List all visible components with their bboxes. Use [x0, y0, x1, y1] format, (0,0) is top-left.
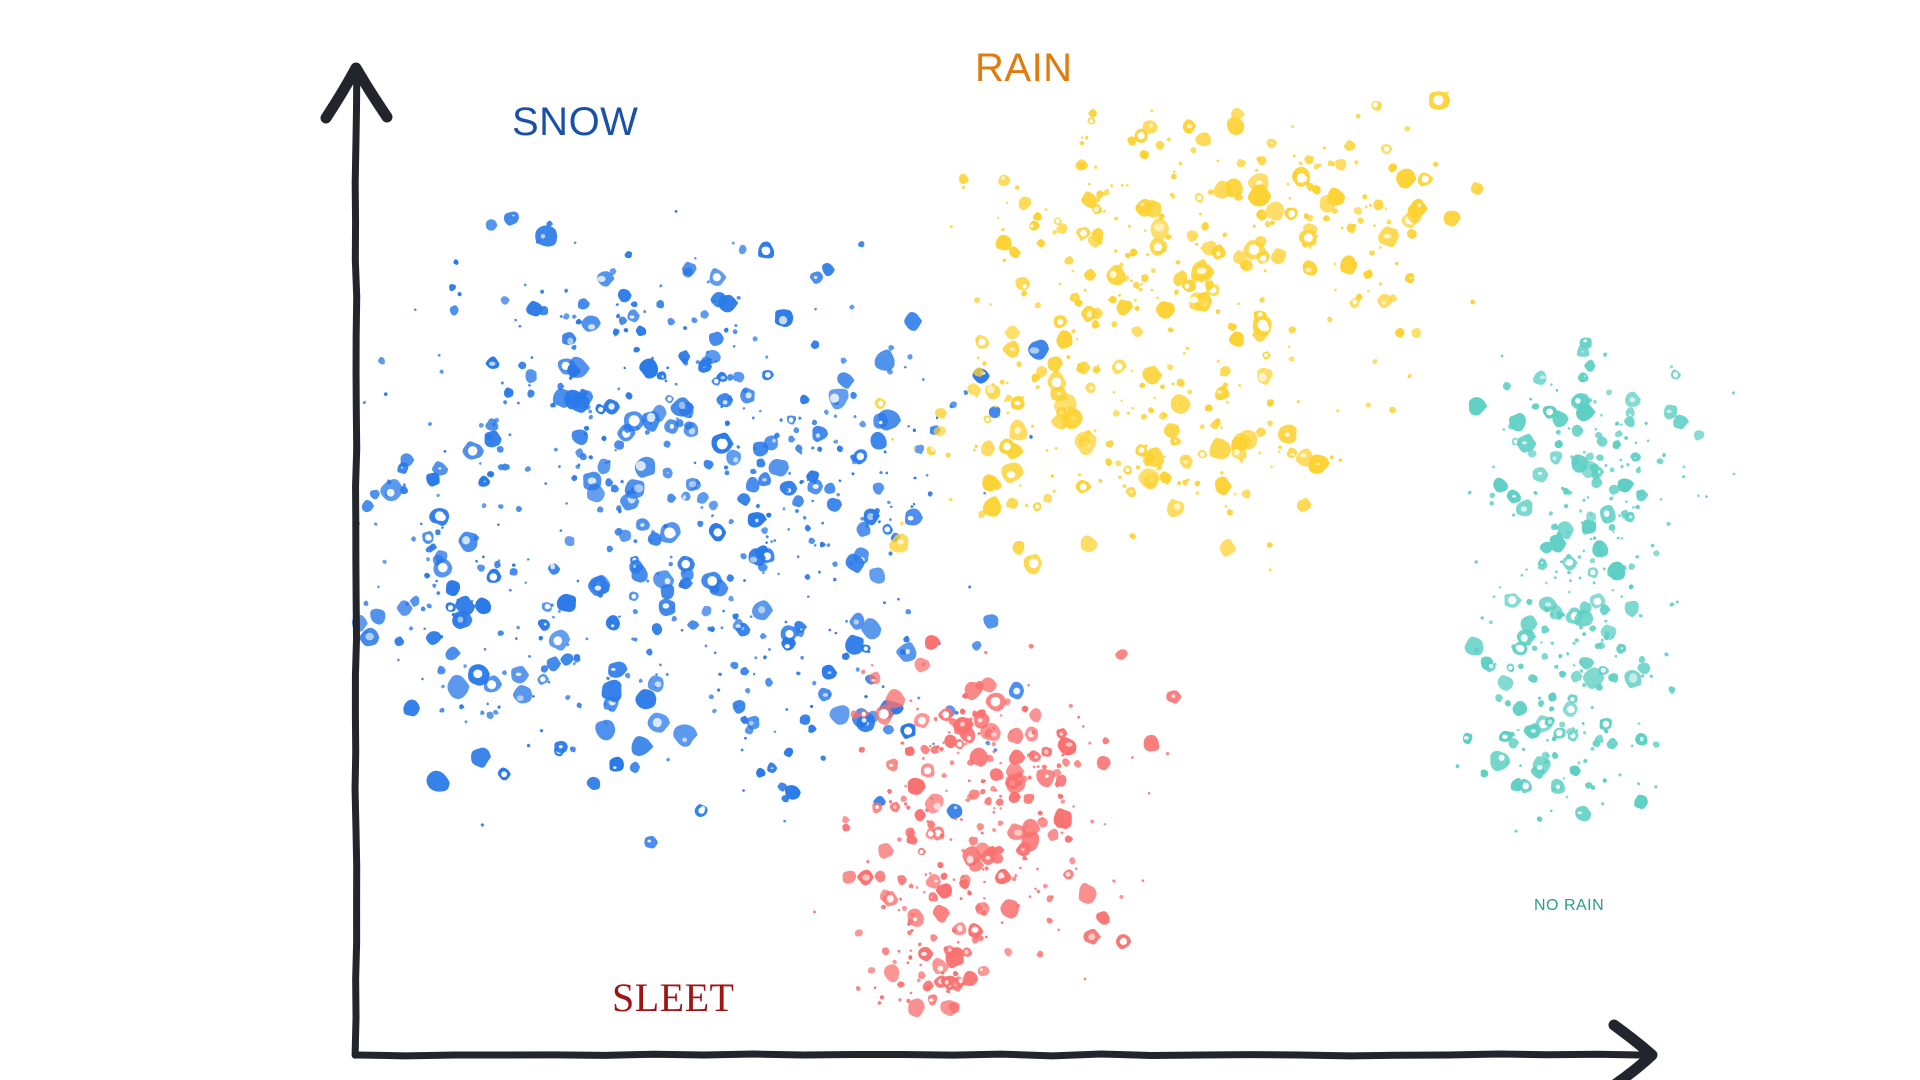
- data-point: [1074, 760, 1081, 768]
- data-point: [997, 217, 999, 220]
- data-point: [646, 579, 649, 582]
- data-point: [1054, 315, 1068, 328]
- data-point: [919, 963, 922, 966]
- data-point: [1004, 948, 1012, 956]
- data-point: [923, 891, 926, 894]
- data-point: [1019, 197, 1032, 211]
- data-point: [875, 350, 895, 371]
- data-point: [1220, 366, 1231, 376]
- data-point: [1365, 205, 1368, 208]
- data-point: [1139, 383, 1145, 388]
- data-point: [513, 685, 532, 703]
- data-point: [1379, 282, 1383, 286]
- data-point: [811, 340, 819, 349]
- data-point: [1257, 156, 1266, 165]
- data-point: [1142, 879, 1145, 882]
- data-point: [1538, 697, 1541, 700]
- data-point: [446, 580, 460, 596]
- data-point: [871, 664, 874, 667]
- data-point: [578, 298, 590, 309]
- data-point: [998, 174, 1010, 186]
- data-point: [909, 699, 912, 702]
- data-point: [920, 745, 930, 755]
- data-point: [1074, 299, 1083, 307]
- data-point: [643, 310, 646, 313]
- data-point: [1197, 450, 1207, 459]
- data-point: [889, 800, 892, 803]
- data-point: [952, 928, 957, 932]
- data-point: [753, 673, 756, 676]
- data-point: [978, 511, 985, 519]
- data-point: [750, 615, 753, 618]
- data-point: [438, 354, 441, 357]
- data-point: [1028, 340, 1049, 360]
- data-point: [1288, 345, 1291, 348]
- data-point: [498, 559, 501, 562]
- data-point: [1640, 674, 1644, 677]
- data-point: [1555, 570, 1558, 573]
- data-point: [1501, 355, 1504, 358]
- data-point: [757, 458, 766, 467]
- data-point: [960, 897, 963, 900]
- data-point: [1078, 474, 1081, 477]
- data-point: [913, 429, 916, 433]
- data-point: [1528, 450, 1537, 458]
- data-point: [608, 662, 628, 678]
- data-point: [928, 994, 937, 1005]
- data-point: [929, 745, 932, 747]
- data-point: [1094, 429, 1097, 432]
- data-point: [1063, 869, 1074, 879]
- data-point: [1293, 154, 1296, 157]
- data-point: [656, 300, 664, 308]
- data-point: [498, 504, 504, 509]
- data-point: [1577, 761, 1580, 764]
- data-point: [977, 732, 980, 735]
- data-point: [1288, 326, 1296, 333]
- data-point: [494, 561, 501, 569]
- data-point: [800, 656, 803, 660]
- data-point: [1170, 437, 1181, 446]
- data-point: [737, 493, 750, 506]
- data-point: [403, 700, 420, 717]
- data-point: [707, 280, 710, 283]
- data-point: [712, 377, 721, 385]
- data-point: [420, 523, 423, 526]
- data-point: [362, 500, 374, 512]
- data-point: [665, 395, 674, 403]
- data-point: [1144, 735, 1160, 752]
- data-point: [1001, 921, 1004, 924]
- data-point: [907, 425, 910, 427]
- data-point: [1635, 505, 1639, 509]
- data-point: [624, 328, 629, 332]
- data-point: [873, 483, 885, 495]
- data-point: [990, 768, 1003, 781]
- data-point: [941, 773, 947, 778]
- data-point: [1620, 595, 1623, 598]
- data-point: [619, 317, 627, 325]
- data-point: [1144, 229, 1147, 232]
- data-point: [666, 758, 670, 762]
- data-point: [765, 541, 768, 544]
- data-point: [1180, 455, 1193, 469]
- data-point: [1090, 820, 1094, 824]
- data-point: [691, 317, 697, 323]
- data-point: [1000, 380, 1005, 385]
- data-point: [435, 580, 438, 582]
- data-point: [1538, 700, 1544, 707]
- data-point: [1490, 493, 1496, 499]
- data-point: [1129, 533, 1136, 539]
- data-point: [783, 820, 786, 823]
- data-point: [941, 873, 948, 880]
- data-point: [892, 960, 897, 964]
- data-point: [1058, 928, 1061, 931]
- data-point: [741, 749, 744, 752]
- data-point: [1058, 794, 1064, 799]
- data-point: [606, 615, 620, 630]
- data-point: [486, 219, 498, 231]
- data-point: [1199, 424, 1204, 429]
- data-point: [906, 806, 910, 810]
- data-point: [540, 290, 544, 294]
- data-point: [758, 472, 771, 486]
- data-point: [1603, 567, 1606, 570]
- data-point: [1120, 399, 1123, 402]
- data-point: [904, 312, 922, 331]
- data-point: [1036, 769, 1054, 787]
- data-point: [1156, 141, 1165, 150]
- data-point: [882, 685, 885, 688]
- data-point: [1517, 729, 1520, 732]
- data-point: [1610, 467, 1615, 472]
- data-point: [1541, 625, 1549, 633]
- data-point: [950, 225, 953, 228]
- data-point: [428, 422, 432, 426]
- data-point: [796, 671, 801, 675]
- data-point: [915, 445, 925, 454]
- data-point: [1088, 183, 1091, 186]
- data-point: [1490, 501, 1495, 506]
- data-point: [1173, 170, 1176, 173]
- data-point: [1179, 162, 1183, 166]
- data-point: [572, 315, 577, 319]
- data-point: [676, 417, 679, 420]
- data-point: [1103, 189, 1109, 195]
- data-point: [482, 555, 485, 558]
- data-point: [1202, 241, 1217, 256]
- data-point: [1309, 246, 1312, 249]
- data-point: [1083, 929, 1101, 945]
- data-point: [1389, 407, 1396, 414]
- data-point: [1620, 465, 1623, 469]
- data-point: [515, 637, 518, 640]
- data-point: [901, 796, 908, 802]
- data-point: [450, 305, 459, 315]
- data-point: [1047, 918, 1053, 924]
- data-point: [788, 436, 795, 443]
- data-point: [1003, 341, 1020, 358]
- data-point: [805, 525, 811, 532]
- data-point: [999, 795, 1002, 798]
- data-point: [766, 535, 769, 538]
- data-point: [812, 420, 817, 426]
- data-point: [1133, 281, 1140, 289]
- data-point: [1588, 567, 1599, 578]
- data-point: [1519, 764, 1522, 767]
- data-point: [565, 695, 570, 700]
- data-point: [493, 710, 498, 715]
- data-point: [910, 929, 914, 933]
- data-point: [1549, 511, 1553, 516]
- data-point: [810, 705, 813, 708]
- data-point: [788, 472, 791, 475]
- data-point: [1081, 191, 1097, 208]
- data-point: [1146, 253, 1149, 256]
- data-point: [458, 292, 462, 296]
- data-point: [1616, 644, 1626, 654]
- data-point: [984, 797, 991, 806]
- data-point: [733, 700, 746, 714]
- data-point: [633, 539, 637, 543]
- data-point: [512, 563, 516, 566]
- data-point: [875, 508, 880, 514]
- data-point: [633, 638, 637, 642]
- data-point: [501, 381, 504, 384]
- data-point: [1573, 664, 1576, 667]
- data-point: [1121, 184, 1124, 187]
- data-point: [626, 392, 633, 399]
- data-point: [633, 347, 640, 353]
- data-point: [737, 296, 741, 300]
- data-point: [1395, 262, 1399, 266]
- data-point: [1503, 382, 1511, 391]
- data-point: [887, 501, 891, 504]
- data-point: [421, 678, 424, 681]
- data-point: [447, 675, 469, 699]
- data-point: [913, 503, 915, 506]
- data-point: [575, 465, 580, 469]
- data-point: [439, 370, 443, 374]
- data-point: [743, 407, 746, 410]
- data-point: [1240, 262, 1248, 269]
- data-point: [436, 591, 440, 595]
- data-point: [933, 905, 950, 923]
- data-point: [918, 971, 926, 979]
- data-point: [1339, 458, 1343, 462]
- data-point: [1220, 426, 1223, 428]
- data-point: [867, 650, 870, 653]
- data-point: [1521, 574, 1524, 577]
- data-point: [426, 631, 442, 645]
- data-point: [910, 992, 913, 995]
- data-point: [1362, 194, 1367, 199]
- data-point: [834, 414, 838, 417]
- data-point: [1358, 218, 1364, 224]
- data-point: [937, 862, 943, 868]
- data-point: [921, 763, 935, 777]
- data-point: [1028, 775, 1032, 779]
- data-point: [1559, 722, 1565, 728]
- data-point: [576, 319, 582, 325]
- data-point: [687, 620, 699, 629]
- data-point: [639, 358, 658, 378]
- data-point: [977, 823, 984, 831]
- data-point: [1593, 400, 1597, 404]
- data-point: [659, 284, 662, 287]
- data-point: [725, 421, 730, 427]
- data-point: [897, 837, 902, 842]
- data-point: [725, 470, 730, 475]
- data-point: [508, 433, 511, 436]
- data-point: [617, 387, 620, 390]
- data-point: [712, 709, 717, 713]
- data-point: [1220, 471, 1224, 474]
- data-point: [697, 521, 703, 527]
- data-point: [1546, 739, 1549, 742]
- data-point: [733, 613, 739, 620]
- data-point: [436, 494, 439, 497]
- data-point: [1035, 302, 1041, 308]
- data-point: [984, 651, 988, 655]
- data-point: [1085, 382, 1096, 393]
- data-point: [907, 354, 912, 359]
- data-point: [538, 619, 550, 631]
- data-point: [1583, 451, 1586, 455]
- data-point: [487, 471, 494, 477]
- data-point: [1624, 436, 1628, 440]
- data-point: [1199, 213, 1202, 216]
- data-point: [577, 580, 580, 583]
- data-point: [363, 401, 366, 404]
- data-point: [1186, 347, 1190, 350]
- data-point: [1241, 489, 1250, 498]
- data-point: [1167, 138, 1171, 142]
- data-point: [554, 448, 558, 452]
- data-point: [1006, 412, 1009, 415]
- data-point: [1625, 500, 1628, 503]
- data-point: [925, 873, 928, 876]
- data-point: [793, 427, 799, 433]
- data-point: [952, 878, 955, 881]
- data-point: [1262, 351, 1270, 359]
- data-point: [722, 610, 725, 613]
- data-point: [1021, 290, 1027, 296]
- data-point: [1554, 665, 1558, 669]
- data-point: [1195, 243, 1198, 246]
- data-point: [962, 186, 966, 190]
- data-point: [502, 670, 507, 675]
- data-point: [1216, 309, 1221, 314]
- data-point: [1634, 795, 1648, 809]
- data-point: [1058, 282, 1061, 285]
- data-point: [1558, 654, 1562, 659]
- data-point: [541, 665, 548, 672]
- data-point: [1570, 766, 1581, 776]
- data-point: [800, 395, 810, 405]
- data-point: [1334, 289, 1337, 292]
- data-point: [1022, 856, 1027, 861]
- data-point: [1009, 420, 1027, 441]
- data-point: [382, 560, 386, 564]
- data-point: [700, 506, 703, 509]
- data-point: [525, 369, 536, 383]
- data-point: [865, 524, 869, 528]
- data-point: [1327, 317, 1332, 323]
- data-point: [485, 430, 502, 447]
- data-point: [516, 506, 522, 512]
- data-point: [427, 771, 450, 792]
- data-point: [836, 493, 840, 497]
- data-point: [1024, 554, 1043, 574]
- data-point: [1611, 589, 1614, 591]
- data-point: [977, 357, 980, 360]
- data-point: [1210, 438, 1232, 459]
- data-point: [1259, 297, 1265, 302]
- data-point: [426, 557, 430, 561]
- data-point: [636, 326, 646, 337]
- data-point: [965, 799, 968, 801]
- data-point: [728, 596, 734, 602]
- data-point: [900, 522, 904, 526]
- data-point: [1297, 498, 1312, 512]
- data-point: [481, 823, 485, 827]
- data-point: [705, 644, 708, 647]
- data-point: [918, 947, 933, 961]
- data-point: [585, 637, 588, 640]
- data-point: [967, 794, 973, 800]
- data-point: [414, 308, 417, 311]
- data-point: [1354, 160, 1358, 164]
- data-point: [378, 357, 385, 365]
- data-point: [986, 693, 1007, 712]
- data-point: [435, 529, 440, 535]
- data-point: [762, 370, 774, 380]
- data-point: [1456, 764, 1460, 768]
- data-point: [1113, 410, 1120, 417]
- data-point: [900, 723, 915, 739]
- data-point: [878, 520, 881, 523]
- data-point: [1480, 616, 1484, 619]
- data-point: [949, 838, 952, 841]
- cluster-snow: [352, 210, 1049, 848]
- data-point: [821, 522, 824, 525]
- data-point: [659, 663, 662, 666]
- data-point: [1195, 193, 1204, 203]
- data-point: [588, 455, 593, 459]
- data-point: [497, 705, 500, 709]
- data-point: [1256, 427, 1266, 437]
- data-point: [695, 804, 708, 817]
- data-point: [1021, 706, 1028, 713]
- data-point: [1118, 294, 1121, 297]
- data-point: [927, 446, 936, 455]
- data-point: [653, 570, 674, 588]
- cluster-label-rain: RAIN: [975, 48, 1073, 88]
- data-point: [1590, 558, 1595, 563]
- data-point: [1056, 728, 1067, 738]
- data-point: [962, 947, 972, 957]
- data-point: [1682, 465, 1685, 468]
- data-point: [1142, 366, 1162, 385]
- data-point: [717, 688, 720, 691]
- data-point: [479, 462, 482, 465]
- data-point: [1150, 238, 1168, 256]
- data-point: [726, 450, 741, 466]
- data-point: [1015, 277, 1030, 291]
- data-point: [670, 556, 673, 559]
